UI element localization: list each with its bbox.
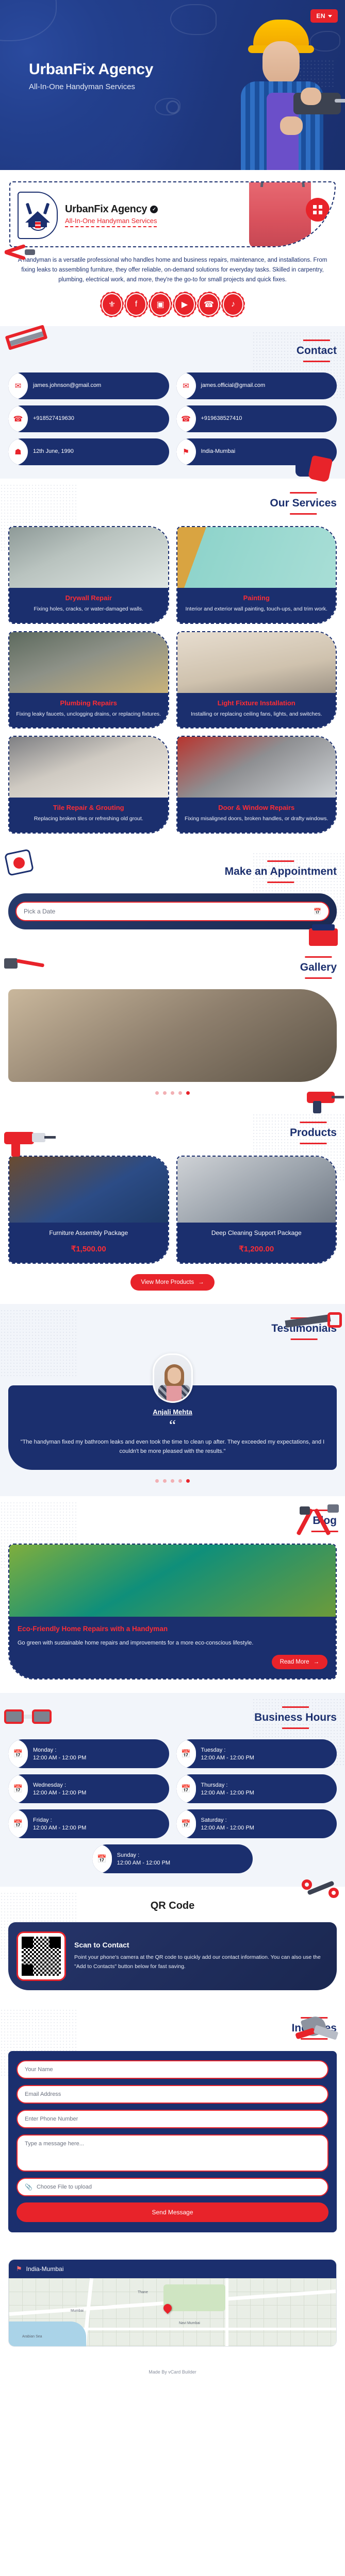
quote-mark-icon: “ [20,1421,325,1430]
day-label: Friday : [33,1817,86,1823]
carousel-dot[interactable] [155,1091,159,1095]
name-input[interactable]: Your Name [17,2060,328,2079]
service-card[interactable]: Door & Window Repairs Fixing misaligned … [176,736,337,834]
calendar-clock-icon: 📅 [8,1739,28,1768]
avatar [153,1353,193,1403]
contact-section: Contact ✉ james.johnson@gmail.com ✉ jame… [0,326,345,479]
gallery-title: Gallery [300,956,337,979]
crossed-hammers-icon [300,1504,341,1537]
hero-handyman-photo [226,15,340,170]
contact-value: India-Mumbai [196,448,236,455]
decor-blob [170,4,217,35]
carousel-dot-active[interactable] [186,1091,190,1095]
tiktok-icon[interactable]: ♪ [224,294,242,315]
arrow-right-icon: → [198,1279,204,1285]
appointment-section: Make an Appointment Pick a Date 📅 [0,847,345,943]
whatsapp-icon[interactable]: ☎ [200,294,218,315]
location-pin-icon: ⚑ [176,438,196,465]
location-pin-icon: ⚑ [16,2265,22,2273]
service-card[interactable]: Painting Interior and exterior wall pain… [176,526,337,624]
map-canvas[interactable]: Mumbai Navi Mumbai Thane Arabian Sea [9,2278,336,2346]
service-image [177,737,336,798]
product-price: ₹1,500.00 [14,1244,163,1253]
testimonials-section: Testimonials Anjali Mehta “ "The handyma… [0,1304,345,1496]
service-desc: Installing or replacing ceiling fans, li… [184,710,330,719]
product-price: ₹1,200.00 [183,1244,331,1253]
map-card[interactable]: ⚑ India-Mumbai Mumbai Navi Mumbai Thane … [8,2259,337,2347]
date-picker-input[interactable]: Pick a Date 📅 [15,902,330,921]
brand-name: UrbanFix Agency [65,204,147,215]
phone-icon: ☎ [176,405,196,432]
time-range: 12:00 AM - 12:00 PM [201,1790,254,1796]
appointment-box: Pick a Date 📅 [8,893,337,929]
email-icon: ✉ [8,372,28,399]
qr-card: Scan to Contact Point your phone's camer… [8,1922,337,1990]
map-label: Thane [138,2291,148,2294]
appointment-title: Make an Appointment [225,860,337,883]
day-label: Monday : [33,1747,86,1753]
service-name: Tile Repair & Grouting [15,804,162,811]
file-upload-input[interactable]: 📎 Choose File to upload [17,2178,328,2196]
contact-item-phone-1[interactable]: ☎ +918527419630 [8,405,169,432]
calendar-icon[interactable]: 📅 [314,908,321,915]
day-label: Saturday : [201,1817,254,1823]
day-label: Thursday : [201,1782,254,1788]
button-label: View More Products [141,1279,194,1285]
hero-text-block: UrbanFix Agency All-In-One Handyman Serv… [29,61,153,91]
service-desc: Replacing broken tiles or refreshing old… [15,815,162,823]
product-image [9,1157,168,1223]
service-card[interactable]: Tile Repair & Grouting Replacing broken … [8,736,169,834]
contact-value: james.johnson@gmail.com [28,382,101,389]
service-image [9,632,168,693]
service-image [177,632,336,693]
business-hours-row: 📅 Tuesday : 12:00 AM - 12:00 PM [176,1739,337,1768]
business-hours-grid: 📅 Monday : 12:00 AM - 12:00 PM 📅 Tuesday… [8,1739,337,1838]
file-upload-label: Choose File to upload [37,2184,92,2190]
birthday-cake-icon: ☗ [8,438,28,465]
business-hours-row: 📅 Friday : 12:00 AM - 12:00 PM [8,1809,169,1838]
time-range: 12:00 AM - 12:00 PM [33,1825,86,1831]
product-name: Furniture Assembly Package [14,1229,163,1237]
inquiry-form: Your Name Email Address Enter Phone Numb… [8,2051,337,2232]
sledgehammer-icon [4,954,45,975]
service-image [9,737,168,798]
phone-icon: ☎ [8,405,28,432]
phone-input[interactable]: Enter Phone Number [17,2110,328,2128]
pliers-icon [4,246,35,260]
company-logo [18,192,58,239]
services-grid: Drywall Repair Fixing holes, cracks, or … [8,526,337,834]
service-image [177,527,336,588]
service-name: Door & Window Repairs [184,804,330,811]
contact-item-birthday[interactable]: ☗ 12th June, 1990 [8,438,169,465]
time-range: 12:00 AM - 12:00 PM [117,1860,170,1866]
qr-section: QR Code Scan to Contact Point your phone… [0,1887,345,2004]
decor-blob [0,0,57,41]
carousel-dot-active[interactable] [186,1479,190,1483]
paperclip-icon: 📎 [25,2183,32,2191]
business-hours-row: 📅 Sunday : 12:00 AM - 12:00 PM [92,1844,253,1873]
contact-value: james.official@gmail.com [196,382,266,389]
vcard-page: EN UrbanFix Agency All-In-One Handyman S… [0,0,345,2383]
blog-image [9,1545,336,1617]
hero-subtitle: All-In-One Handyman Services [29,82,153,91]
youtube-icon[interactable]: ▶ [175,294,194,315]
trowel-icon [295,2013,340,2051]
carousel-dot[interactable] [163,1479,167,1483]
calendar-clock-icon: 📅 [8,1809,28,1838]
carousel-dot[interactable] [178,1479,182,1483]
business-hours-row: 📅 Saturday : 12:00 AM - 12:00 PM [176,1809,337,1838]
carousel-dot[interactable] [155,1479,159,1483]
message-textarea[interactable]: Type a message here... [17,2134,328,2172]
service-desc: Interior and exterior wall painting, tou… [184,605,330,614]
tape-measure-icon [3,847,39,875]
instagram-icon[interactable]: ▣ [151,294,170,315]
time-range: 12:00 AM - 12:00 PM [201,1755,254,1761]
map-label: Arabian Sea [22,2335,42,2338]
calendar-clock-icon: 📅 [176,1774,196,1803]
view-more-products-button[interactable]: View More Products → [130,1274,214,1291]
blog-post-desc: Go green with sustainable home repairs a… [18,1639,327,1648]
calendar-clock-icon: 📅 [92,1844,112,1873]
inquiries-section: Inquiries Your Name Email Address Enter … [0,2004,345,2246]
qr-description: Point your phone's camera at the QR code… [74,1953,328,1972]
map-label: Navi Mumbai [179,2321,200,2325]
map-label: Mumbai [71,2309,84,2313]
services-section: Our Services Drywall Repair Fixing holes… [0,479,345,847]
carousel-dot[interactable] [171,1091,174,1095]
day-label: Sunday : [117,1852,170,1858]
email-input[interactable]: Email Address [17,2085,328,2104]
send-message-button[interactable]: Send Message [17,2202,328,2222]
day-label: Tuesday : [201,1747,254,1753]
carousel-dot[interactable] [178,1091,182,1095]
date-placeholder: Pick a Date [24,908,55,915]
products-grid: Furniture Assembly Package ₹1,500.00 Dee… [8,1156,337,1264]
business-hours-row: 📅 Thursday : 12:00 AM - 12:00 PM [176,1774,337,1803]
service-name: Drywall Repair [15,594,162,602]
service-card[interactable]: Drywall Repair Fixing holes, cracks, or … [8,526,169,624]
service-name: Painting [184,594,330,602]
contact-item-phone-2[interactable]: ☎ +919638527410 [176,405,337,432]
calendar-clock-icon: 📅 [8,1774,28,1803]
time-range: 12:00 AM - 12:00 PM [201,1825,254,1831]
product-card[interactable]: Furniture Assembly Package ₹1,500.00 [8,1156,169,1264]
day-label: Wednesday : [33,1782,86,1788]
grid-menu-icon[interactable] [306,198,330,222]
hero-title: UrbanFix Agency [29,61,153,78]
profile-section: UrbanFix Agency ✓ All-In-One Handyman Se… [0,170,345,326]
contact-value: +918527419630 [28,415,74,422]
paint-bucket-icon [309,919,342,946]
calendar-clock-icon: 📅 [176,1739,196,1768]
gallery-image[interactable] [8,989,337,1082]
map-section: ⚑ India-Mumbai Mumbai Navi Mumbai Thane … [0,2259,345,2360]
testimonial-text: "The handyman fixed my bathroom leaks an… [20,1437,325,1456]
hacksaw-icon [6,330,50,350]
email-icon: ✉ [176,372,196,399]
gallery-carousel-dots [8,1091,337,1095]
testimonial-author: Anjali Mehta [20,1408,325,1416]
footer-credit: Made By vCard Builder [0,2360,345,2383]
qr-code-image[interactable] [17,1931,66,1981]
products-section: Products Furniture Assembly Package ₹1,5… [0,1108,345,1304]
carousel-dot[interactable] [171,1479,174,1483]
contact-title: Contact [297,340,337,362]
testimonials-carousel-dots [8,1479,337,1483]
products-title: Products [290,1122,337,1144]
service-card[interactable]: Plumbing Repairs Fixing leaky faucets, u… [8,631,169,729]
business-hours-row: 📅 Monday : 12:00 AM - 12:00 PM [8,1739,169,1768]
service-desc: Fixing misaligned doors, broken handles,… [184,815,330,823]
brand-tagline: All-In-One Handyman Services [65,217,157,227]
product-image [177,1157,336,1223]
blog-card[interactable]: Eco-Friendly Home Repairs with a Handyma… [8,1544,337,1680]
calendar-clock-icon: 📅 [176,1809,196,1838]
service-name: Light Fixture Installation [184,699,330,707]
blog-section: Blog Eco-Friendly Home Repairs with a Ha… [0,1496,345,1693]
arrow-right-icon: → [314,1659,320,1665]
service-image [9,527,168,588]
verified-badge-icon: ✓ [150,206,158,213]
gallery-section: Gallery [0,943,345,1108]
qr-heading: Scan to Contact [74,1941,328,1949]
contact-grid: ✉ james.johnson@gmail.com ✉ james.offici… [8,372,337,465]
gear-icon [166,100,179,114]
button-label: Read More [280,1659,309,1665]
safety-goggles-icon [4,1705,52,1729]
service-name: Plumbing Repairs [15,699,162,707]
contact-value: +919638527410 [196,415,242,422]
service-desc: Fixing holes, cracks, or water-damaged w… [15,605,162,614]
about-text: A handyman is a versatile professional w… [18,256,327,285]
phone-placeholder: Enter Phone Number [25,2116,78,2122]
qr-title: QR Code [8,1900,337,1912]
carousel-dot[interactable] [163,1091,167,1095]
business-hours-section: Business Hours 📅 Monday : 12:00 AM - 12:… [0,1693,345,1887]
product-card[interactable]: Deep Cleaning Support Package ₹1,200.00 [176,1156,337,1264]
facebook-icon[interactable]: f [127,294,145,315]
map-location-label: India-Mumbai [26,2265,64,2273]
time-range: 12:00 AM - 12:00 PM [33,1790,86,1796]
hero-banner: EN UrbanFix Agency All-In-One Handyman S… [0,0,345,170]
blog-post-title: Eco-Friendly Home Repairs with a Handyma… [18,1625,327,1633]
product-name: Deep Cleaning Support Package [183,1229,331,1237]
handsaw-icon [285,1311,342,1332]
contact-item-email-2[interactable]: ✉ james.official@gmail.com [176,372,337,399]
services-title: Our Services [270,492,337,515]
wrench-icon [303,1878,339,1902]
read-more-button[interactable]: Read More → [272,1655,327,1669]
profile-card: UrbanFix Agency ✓ All-In-One Handyman Se… [9,181,336,247]
drill-icon [4,1129,56,1158]
email-placeholder: Email Address [25,2091,61,2097]
contact-item-email-1[interactable]: ✉ james.johnson@gmail.com [8,372,169,399]
website-icon[interactable]: ⚜ [103,294,121,315]
service-card[interactable]: Light Fixture Installation Installing or… [176,631,337,729]
drill-icon [300,1092,342,1114]
service-desc: Fixing leaky faucets, unclogging drains,… [15,710,162,719]
map-header: ⚑ India-Mumbai [9,2260,336,2278]
business-hours-row: 📅 Wednesday : 12:00 AM - 12:00 PM [8,1774,169,1803]
contact-value: 12th June, 1990 [28,448,74,455]
name-placeholder: Your Name [25,2066,53,2073]
work-gloves-icon [295,450,342,486]
business-hours-title: Business Hours [254,1706,337,1729]
time-range: 12:00 AM - 12:00 PM [33,1755,86,1761]
message-placeholder: Type a message here... [25,2141,84,2147]
social-links: ⚜ f ▣ ▶ ☎ ♪ [9,285,336,326]
